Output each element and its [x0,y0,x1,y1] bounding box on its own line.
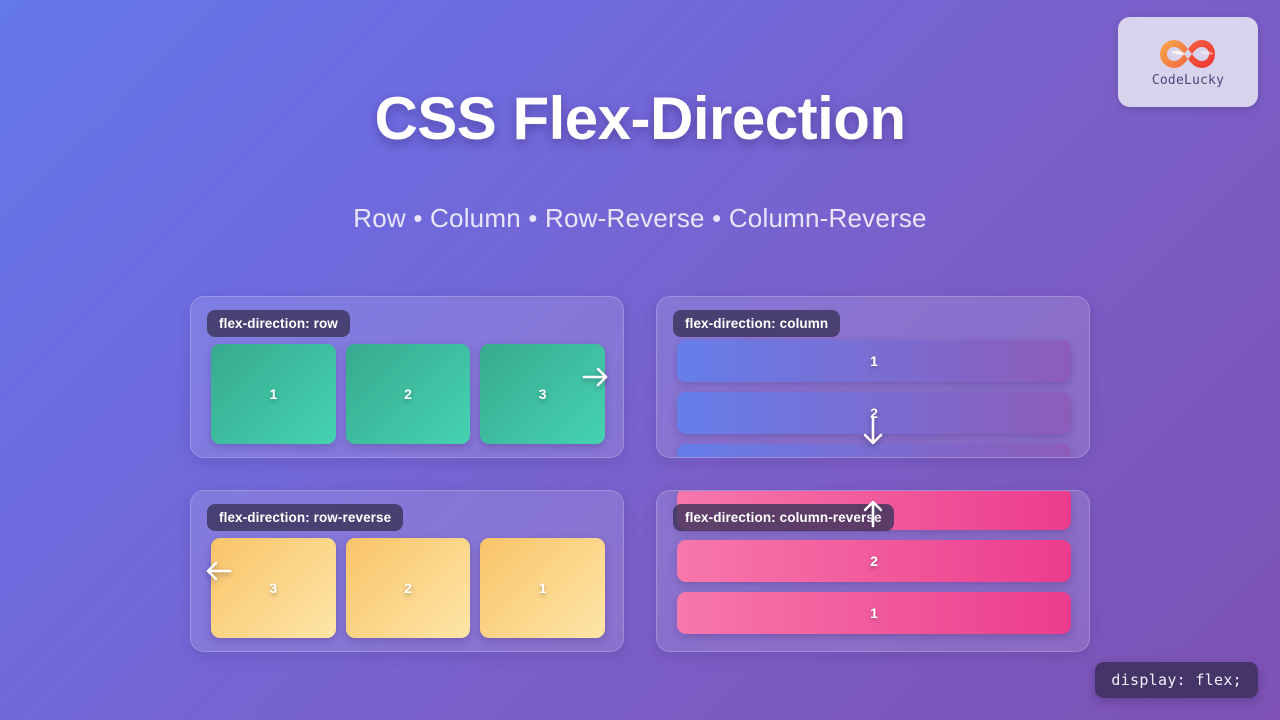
panel-label-row: flex-direction: row [207,310,350,337]
panel-label-column: flex-direction: column [673,310,840,337]
flex-item: 1 [677,340,1071,382]
page-title: CSS Flex-Direction [0,84,1280,153]
demo-panel-row: flex-direction: row 1 2 3 [190,296,624,458]
flex-item: 3 [211,538,336,638]
code-badge: display: flex; [1095,662,1258,698]
panel-label-row-reverse: flex-direction: row-reverse [207,504,403,531]
flex-container-row: 1 2 3 [211,344,605,444]
flex-item: 3 [677,444,1071,458]
demo-panel-row-reverse: flex-direction: row-reverse 1 2 3 [190,490,624,652]
demo-panel-column: flex-direction: column 1 2 3 [656,296,1090,458]
flex-item: 2 [346,344,471,444]
flex-container-column-reverse: 1 2 3 [677,534,1071,634]
flex-item: 1 [480,538,605,638]
demo-panel-column-reverse: 1 2 3 flex-direction: column-reverse [656,490,1090,652]
flex-item: 2 [677,392,1071,434]
flex-item: 2 [346,538,471,638]
flex-container-row-reverse: 1 2 3 [211,538,605,638]
panel-label-column-reverse: flex-direction: column-reverse [673,504,894,531]
flex-container-column: 1 2 3 [677,340,1071,440]
flex-direction-demo-grid: flex-direction: row 1 2 3 flex-direction… [190,296,1090,652]
page-subtitle: Row • Column • Row-Reverse • Column-Reve… [0,203,1280,234]
flex-item: 1 [211,344,336,444]
flex-item: 2 [677,540,1071,582]
flex-item: 1 [677,592,1071,634]
infinity-leaf-logo-icon [1157,37,1219,71]
flex-item: 3 [480,344,605,444]
